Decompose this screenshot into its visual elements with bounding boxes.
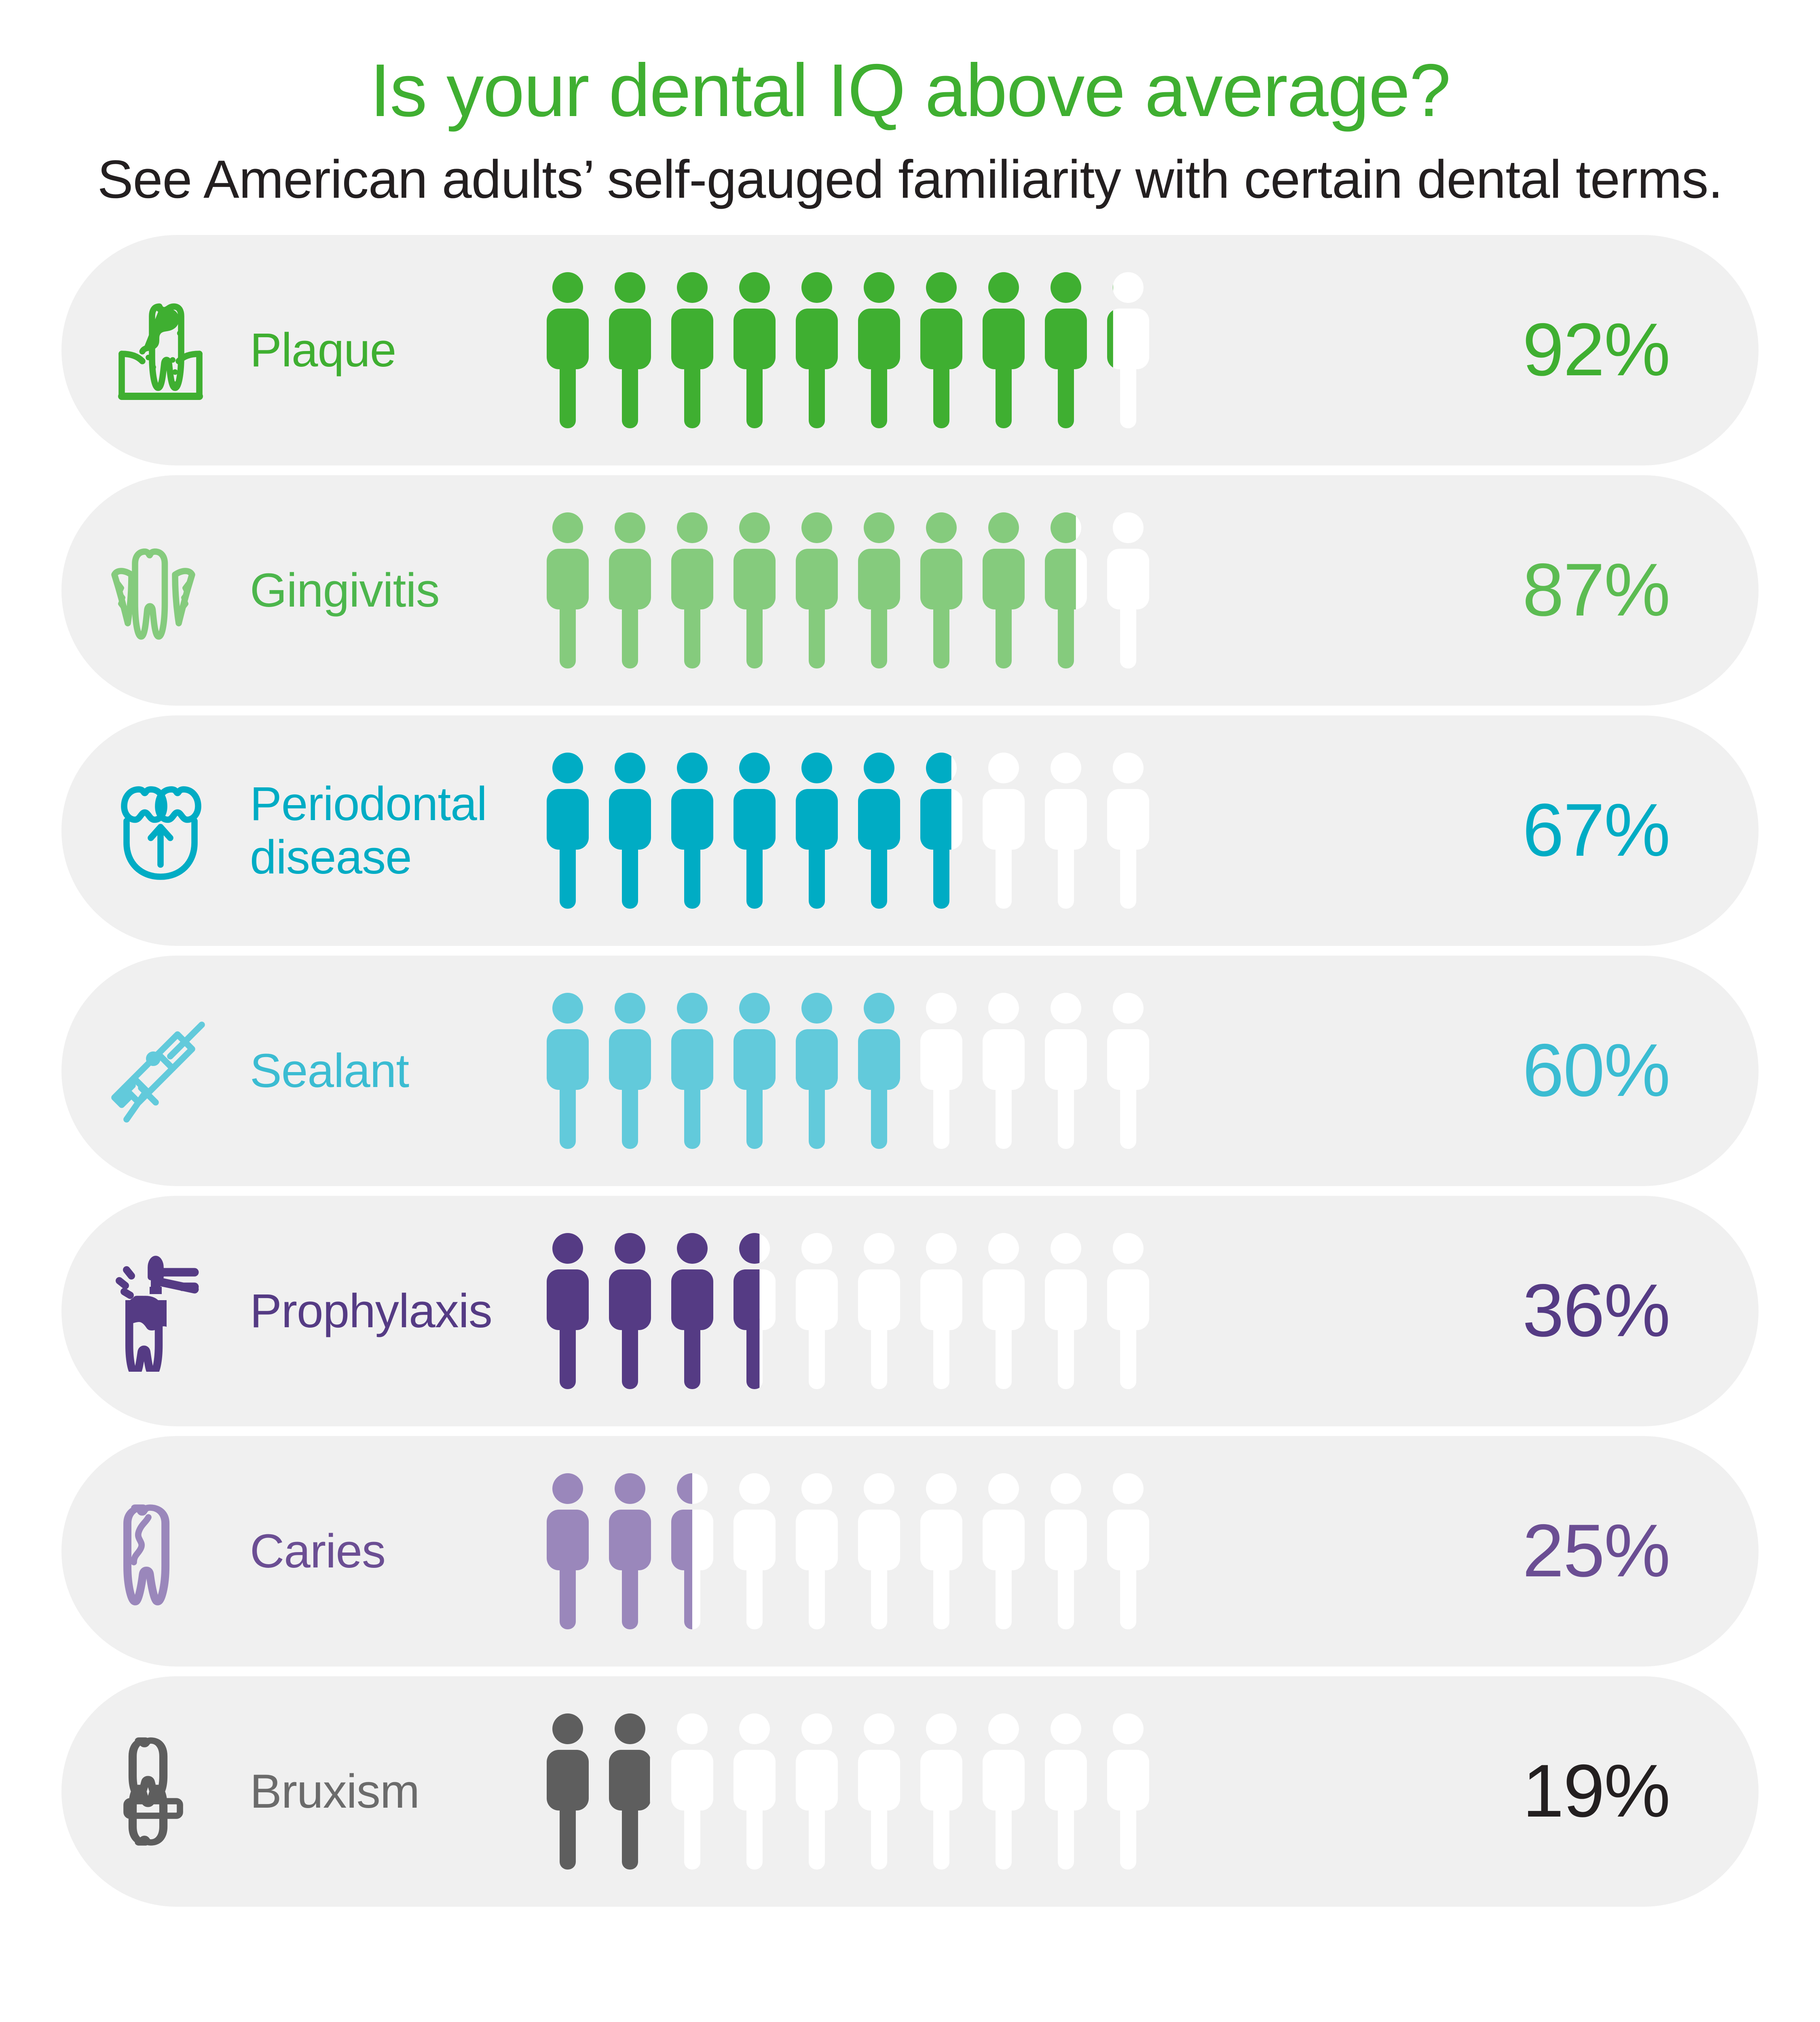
person-icon-filled bbox=[729, 271, 780, 429]
person-icon-partial bbox=[1041, 512, 1091, 669]
row-label-gingivitis: Gingivitis bbox=[235, 564, 531, 617]
row-label-prophylaxis: Prophylaxis bbox=[235, 1284, 531, 1338]
pictogram-group-periodontal-disease bbox=[531, 752, 1512, 909]
chart-row-plaque: Plaque bbox=[61, 235, 1759, 465]
person-icon-empty bbox=[916, 1713, 966, 1870]
person-icon-filled bbox=[667, 1232, 717, 1390]
person-icon-empty bbox=[1103, 1472, 1153, 1630]
row-label-caries: Caries bbox=[235, 1525, 531, 1578]
person-icon-partial bbox=[667, 1472, 717, 1630]
tooth-polisher-icon bbox=[61, 1250, 235, 1372]
person-icon-filled bbox=[979, 512, 1029, 669]
person-icon-filled bbox=[729, 752, 780, 909]
row-label-plaque: Plaque bbox=[235, 324, 531, 377]
person-icon-filled bbox=[605, 1232, 655, 1390]
page-subtitle: See American adults’ self-gauged familia… bbox=[0, 147, 1820, 212]
person-icon-filled bbox=[854, 512, 904, 669]
person-icon-filled bbox=[916, 271, 966, 429]
row-percent-caries: 25% bbox=[1512, 1514, 1759, 1588]
person-icon-empty bbox=[979, 1713, 1029, 1870]
person-icon-empty bbox=[1041, 1472, 1091, 1630]
tooth-plaque-icon bbox=[61, 290, 235, 411]
person-icon-filled bbox=[792, 992, 842, 1150]
person-icon-empty bbox=[1041, 1713, 1091, 1870]
person-icon-filled bbox=[543, 271, 593, 429]
person-icon-empty bbox=[916, 992, 966, 1150]
person-icon-empty bbox=[979, 752, 1029, 909]
person-icon-empty bbox=[792, 1232, 842, 1390]
row-percent-periodontal-disease: 67% bbox=[1512, 793, 1759, 868]
person-icon-empty bbox=[1103, 512, 1153, 669]
person-icon-empty bbox=[1103, 752, 1153, 909]
person-icon-empty bbox=[1103, 992, 1153, 1150]
person-icon-filled bbox=[792, 752, 842, 909]
person-icon-empty bbox=[979, 1472, 1029, 1630]
person-icon-empty bbox=[1041, 752, 1091, 909]
row-percent-gingivitis: 87% bbox=[1512, 553, 1759, 628]
person-icon-empty bbox=[916, 1232, 966, 1390]
syringe-icon bbox=[61, 1010, 235, 1132]
person-icon-filled bbox=[543, 992, 593, 1150]
pictogram-group-plaque bbox=[531, 271, 1512, 429]
person-icon-empty bbox=[667, 1713, 717, 1870]
person-icon-empty bbox=[916, 1472, 966, 1630]
person-icon-empty bbox=[729, 1713, 780, 1870]
chart-row-prophylaxis: Prophylaxis bbox=[61, 1196, 1759, 1426]
person-icon-empty bbox=[854, 1232, 904, 1390]
person-icon-partial bbox=[1103, 271, 1153, 429]
pictogram-group-caries bbox=[531, 1472, 1512, 1630]
person-icon-empty bbox=[979, 992, 1029, 1150]
person-icon-filled bbox=[729, 512, 780, 669]
tooth-receding-gum-arrow-icon bbox=[61, 770, 235, 891]
chart-row-bruxism: Bruxism bbox=[61, 1676, 1759, 1907]
person-icon-filled bbox=[543, 1232, 593, 1390]
person-icon-partial bbox=[916, 752, 966, 909]
person-icon-empty bbox=[1103, 1232, 1153, 1390]
pictogram-group-prophylaxis bbox=[531, 1232, 1512, 1390]
person-icon-filled bbox=[916, 512, 966, 669]
person-icon-filled bbox=[729, 992, 780, 1150]
person-icon-filled bbox=[667, 752, 717, 909]
row-label-periodontal-disease: Periodontal disease bbox=[235, 777, 531, 884]
person-icon-filled bbox=[605, 992, 655, 1150]
row-percent-bruxism: 19% bbox=[1512, 1754, 1759, 1829]
person-icon-filled bbox=[605, 271, 655, 429]
chart-row-periodontal-disease: Periodontal disease bbox=[61, 715, 1759, 946]
person-icon-filled bbox=[792, 512, 842, 669]
person-icon-filled bbox=[667, 512, 717, 669]
person-icon-empty bbox=[792, 1472, 842, 1630]
person-icon-filled bbox=[979, 271, 1029, 429]
grinding-teeth-icon bbox=[61, 1731, 235, 1852]
page-title: Is your dental IQ above average? bbox=[0, 53, 1820, 129]
person-icon-filled bbox=[543, 512, 593, 669]
person-icon-filled bbox=[792, 271, 842, 429]
row-label-bruxism: Bruxism bbox=[235, 1765, 531, 1818]
person-icon-filled bbox=[543, 752, 593, 909]
row-percent-sealant: 60% bbox=[1512, 1033, 1759, 1108]
person-icon-filled bbox=[605, 752, 655, 909]
person-icon-filled bbox=[854, 992, 904, 1150]
person-icon-filled bbox=[543, 1472, 593, 1630]
person-icon-filled bbox=[854, 752, 904, 909]
pictogram-group-gingivitis bbox=[531, 512, 1512, 669]
person-icon-empty bbox=[854, 1472, 904, 1630]
person-icon-filled bbox=[854, 271, 904, 429]
header: Is your dental IQ above average? See Ame… bbox=[0, 0, 1820, 212]
tooth-inflamed-gums-icon bbox=[61, 530, 235, 651]
chart-row-sealant: Sealant bbox=[61, 956, 1759, 1186]
person-icon-filled bbox=[667, 271, 717, 429]
pictogram-group-bruxism bbox=[531, 1713, 1512, 1870]
person-icon-filled bbox=[605, 512, 655, 669]
infographic-page: Is your dental IQ above average? See Ame… bbox=[0, 0, 1820, 2022]
pictogram-group-sealant bbox=[531, 992, 1512, 1150]
person-icon-partial bbox=[729, 1232, 780, 1390]
cracked-tooth-icon bbox=[61, 1491, 235, 1612]
person-icon-empty bbox=[1041, 1232, 1091, 1390]
person-icon-empty bbox=[854, 1713, 904, 1870]
person-icon-filled bbox=[1041, 271, 1091, 429]
chart-row-caries: Caries bbox=[61, 1436, 1759, 1667]
person-icon-filled bbox=[667, 992, 717, 1150]
person-icon-empty bbox=[1103, 1713, 1153, 1870]
row-label-sealant: Sealant bbox=[235, 1044, 531, 1098]
person-icon-empty bbox=[1041, 992, 1091, 1150]
person-icon-filled bbox=[543, 1713, 593, 1870]
chart-row-gingivitis: Gingivitis bbox=[61, 475, 1759, 706]
person-icon-filled bbox=[605, 1472, 655, 1630]
row-percent-prophylaxis: 36% bbox=[1512, 1273, 1759, 1348]
pictogram-chart: Plaque bbox=[0, 235, 1820, 1907]
person-icon-partial bbox=[605, 1713, 655, 1870]
person-icon-empty bbox=[979, 1232, 1029, 1390]
row-percent-plaque: 92% bbox=[1512, 313, 1759, 387]
person-icon-empty bbox=[729, 1472, 780, 1630]
person-icon-empty bbox=[792, 1713, 842, 1870]
